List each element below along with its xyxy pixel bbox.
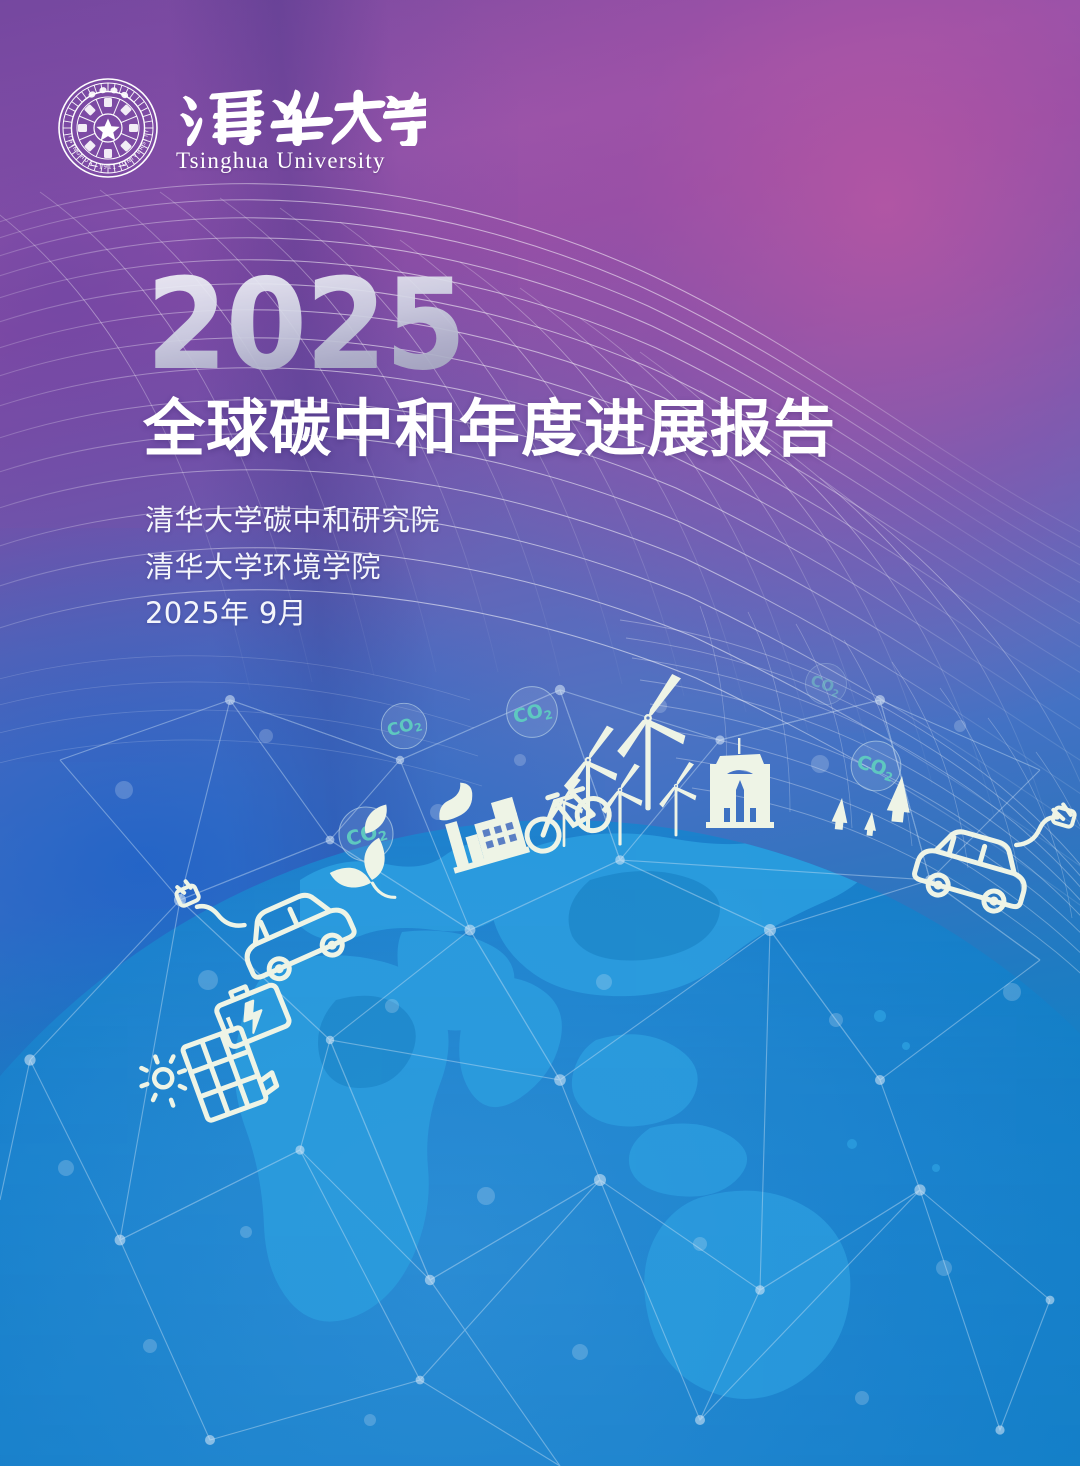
report-cover: CO2 CO2 CO2 CO2 CO2 (0, 0, 1080, 1466)
tsinghua-wordmark-en: Tsinghua University (176, 148, 386, 174)
cover-subtitle-block: 清华大学碳中和研究院 清华大学环境学院 2025年 9月 (145, 502, 440, 632)
globe-with-low-carbon-icons: CO2 CO2 CO2 CO2 CO2 (0, 0, 1080, 1466)
factory-icon (431, 769, 530, 873)
page-title: 全球碳中和年度进展报告 (143, 396, 836, 461)
cover-date: 2025年 9月 (145, 595, 440, 632)
electric-car-icon (910, 770, 1076, 925)
tsinghua-university-seal: TSINGHUA UNIVERSITY 1911 (56, 76, 160, 180)
tsinghua-logo: TSINGHUA UNIVERSITY 1911 清华大学 (56, 76, 426, 180)
leaf-icon (313, 803, 426, 919)
electric-car-icon (173, 827, 360, 1004)
subtitle-line-1: 清华大学碳中和研究院 (145, 502, 440, 539)
tsinghua-wordmark-cn: 清华大学 (176, 82, 426, 146)
subtitle-line-2: 清华大学环境学院 (145, 549, 440, 586)
svg-text:1911: 1911 (99, 165, 117, 171)
arch-monument-icon (706, 738, 774, 828)
bicycle-icon (517, 781, 614, 855)
cover-year: 2025 (146, 262, 465, 388)
